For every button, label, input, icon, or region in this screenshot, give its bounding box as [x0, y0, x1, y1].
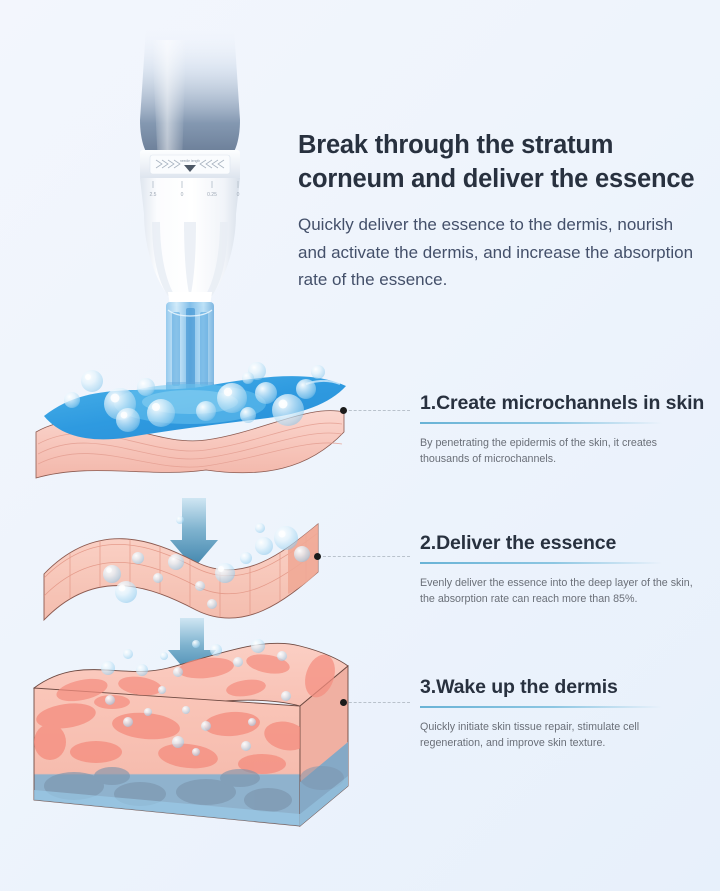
page-subtitle: Quickly deliver the essence to the dermi…: [298, 211, 698, 294]
step-title-1: 1.Create microchannels in skin: [420, 392, 698, 415]
step-item-3: 3.Wake up the dermis Quickly initiate sk…: [420, 676, 698, 752]
dial-label: needle length: [180, 159, 200, 163]
leader-dot-3: [340, 699, 347, 706]
leader-dot-2: [314, 553, 321, 560]
step-divider-2: [420, 562, 662, 564]
step-body-3: Quickly initiate skin tissue repair, sti…: [420, 719, 698, 753]
svg-text:0: 0: [181, 192, 184, 198]
step-item-1: 1.Create microchannels in skin By penetr…: [420, 392, 698, 468]
svg-text:0: 0: [237, 192, 240, 198]
step-body-1: By penetrating the epidermis of the skin…: [420, 435, 698, 469]
step-item-2: 2.Deliver the essence Evenly deliver the…: [420, 532, 698, 608]
leader-dot-1: [340, 407, 347, 414]
page-title: Break through the stratum corneum and de…: [298, 128, 698, 196]
svg-text:2.5: 2.5: [150, 192, 157, 198]
device-group: needle length 2.5 0 0.25 0: [140, 28, 240, 402]
step-divider-1: [420, 422, 662, 424]
step-body-2: Evenly deliver the essence into the deep…: [420, 575, 698, 609]
infographic-root: needle length 2.5 0 0.25 0: [0, 0, 720, 891]
leader-line-1: [344, 410, 410, 412]
layer-dermis-block: [34, 639, 348, 826]
leader-line-2: [318, 556, 410, 558]
step-title-3: 3.Wake up the dermis: [420, 676, 698, 699]
leader-line-3: [344, 702, 410, 704]
step-title-2: 2.Deliver the essence: [420, 532, 698, 555]
step-divider-3: [420, 706, 662, 708]
svg-text:0.25: 0.25: [207, 192, 217, 198]
